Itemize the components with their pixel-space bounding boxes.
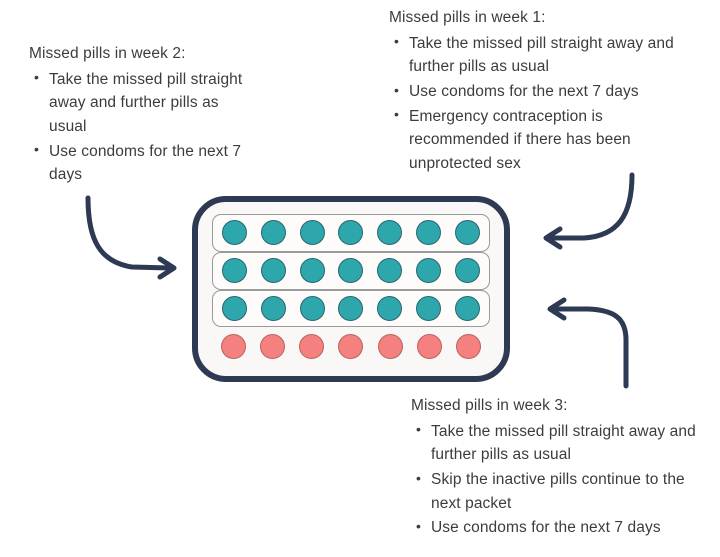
list-item: Use condoms for the next 7 days <box>431 516 711 540</box>
inactive-pill <box>221 334 246 359</box>
callout-week-1: Missed pills in week 1: Take the missed … <box>389 8 701 176</box>
list-item: Take the missed pill straight away and f… <box>431 420 711 467</box>
inactive-pill <box>456 334 481 359</box>
arrow-week2 <box>88 198 174 277</box>
active-pill <box>300 296 325 321</box>
diagram-canvas: Missed pills in week 2: Take the missed … <box>0 0 720 557</box>
inactive-pill <box>417 334 442 359</box>
active-pill <box>377 220 402 245</box>
inactive-pill <box>299 334 324 359</box>
active-pill <box>300 220 325 245</box>
active-pill <box>261 296 286 321</box>
arrow-week2-line <box>88 198 170 268</box>
inactive-pill <box>378 334 403 359</box>
list-item: Use condoms for the next 7 days <box>49 140 244 187</box>
pill-row-3 <box>212 290 490 328</box>
callout-week-3-list: Take the missed pill straight away and f… <box>411 420 711 540</box>
active-pill <box>455 220 480 245</box>
pill-row-1 <box>212 214 490 252</box>
arrow-week3 <box>550 300 626 386</box>
pill-rows-container <box>198 202 504 376</box>
list-item: Skip the inactive pills continue to the … <box>431 468 711 515</box>
list-item: Take the missed pill straight away and f… <box>409 32 701 79</box>
callout-week-2-title: Missed pills in week 2: <box>29 44 244 65</box>
pill-row-2 <box>212 252 490 290</box>
active-pill <box>300 258 325 283</box>
callout-week-1-list: Take the missed pill straight away and f… <box>389 32 701 175</box>
active-pill <box>261 258 286 283</box>
active-pill <box>416 220 441 245</box>
active-pill <box>222 296 247 321</box>
arrow-week3-line <box>554 309 626 386</box>
active-pill <box>377 296 402 321</box>
list-item: Take the missed pill straight away and f… <box>49 68 244 139</box>
active-pill <box>416 258 441 283</box>
active-pill <box>455 258 480 283</box>
active-pill <box>222 258 247 283</box>
active-pill <box>416 296 441 321</box>
callout-week-1-title: Missed pills in week 1: <box>389 8 701 29</box>
callout-week-3-title: Missed pills in week 3: <box>411 396 711 417</box>
active-pill <box>338 296 363 321</box>
list-item: Emergency contraception is recommended i… <box>409 105 701 176</box>
inactive-pill <box>260 334 285 359</box>
arrow-week2-arrowhead-icon <box>160 259 174 277</box>
arrow-week1 <box>546 175 632 247</box>
callout-week-2-list: Take the missed pill straight away and f… <box>29 68 244 187</box>
list-item: Use condoms for the next 7 days <box>409 80 701 104</box>
active-pill <box>377 258 402 283</box>
active-pill <box>338 220 363 245</box>
callout-week-3: Missed pills in week 3: Take the missed … <box>411 396 711 541</box>
callout-week-2: Missed pills in week 2: Take the missed … <box>29 44 244 188</box>
arrow-week1-arrowhead-icon <box>546 229 560 247</box>
active-pill <box>455 296 480 321</box>
inactive-pill <box>338 334 363 359</box>
contraceptive-pill-packet <box>192 196 510 382</box>
arrow-week1-line <box>550 175 632 238</box>
active-pill <box>338 258 363 283</box>
arrow-week3-arrowhead-icon <box>550 300 564 318</box>
active-pill <box>222 220 247 245</box>
active-pill <box>261 220 286 245</box>
pill-row-4 <box>212 327 490 365</box>
